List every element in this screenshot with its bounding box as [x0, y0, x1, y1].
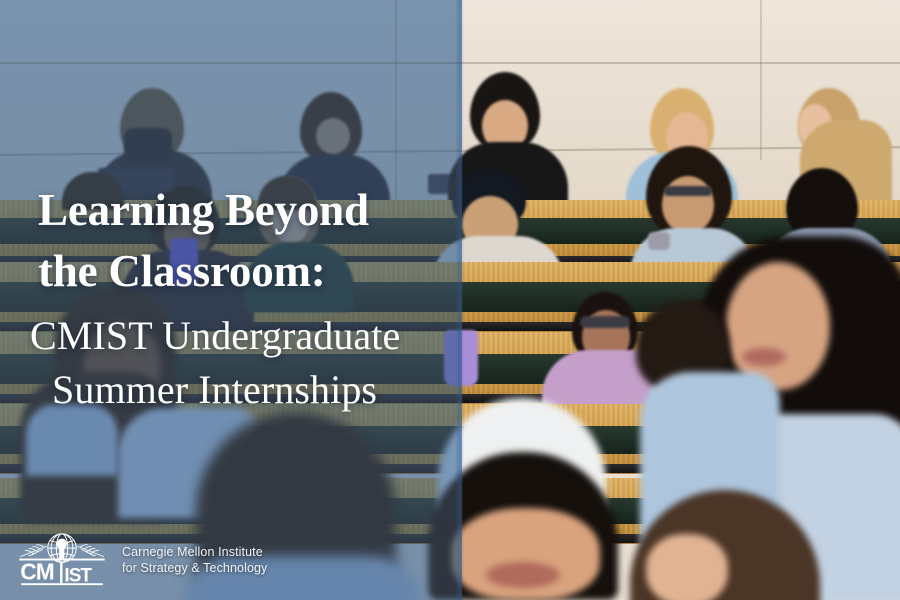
headline-line-2: the Classroom:: [0, 249, 520, 294]
headline-line-3: CMIST Undergraduate: [0, 316, 520, 356]
headline-line-1: Learning Beyond: [0, 188, 520, 233]
eyeglasses: [580, 316, 630, 328]
cmist-logo: CM IST Carnegie Mellon Institute for Str…: [14, 532, 267, 588]
cmist-logo-text: Carnegie Mellon Institute for Strategy &…: [122, 544, 267, 577]
smile: [742, 348, 786, 366]
foreground-face: [726, 262, 830, 390]
headline-block: Learning Beyond the Classroom: CMIST Und…: [0, 186, 520, 410]
org-line-2: for Strategy & Technology: [122, 560, 267, 577]
svg-text:IST: IST: [64, 565, 92, 586]
org-line-1: Carnegie Mellon Institute: [122, 544, 267, 561]
student-face: [662, 176, 714, 234]
smile: [486, 562, 560, 588]
cmist-emblem-icon: CM IST: [14, 532, 110, 588]
wristwatch: [648, 232, 670, 250]
eyeglasses: [664, 186, 712, 196]
foreground-face: [646, 534, 728, 600]
headline-line-4: Summer Internships: [0, 370, 520, 410]
svg-text:CM: CM: [20, 558, 54, 584]
wall-column-line: [760, 0, 762, 160]
banner-image: Learning Beyond the Classroom: CMIST Und…: [0, 0, 900, 600]
